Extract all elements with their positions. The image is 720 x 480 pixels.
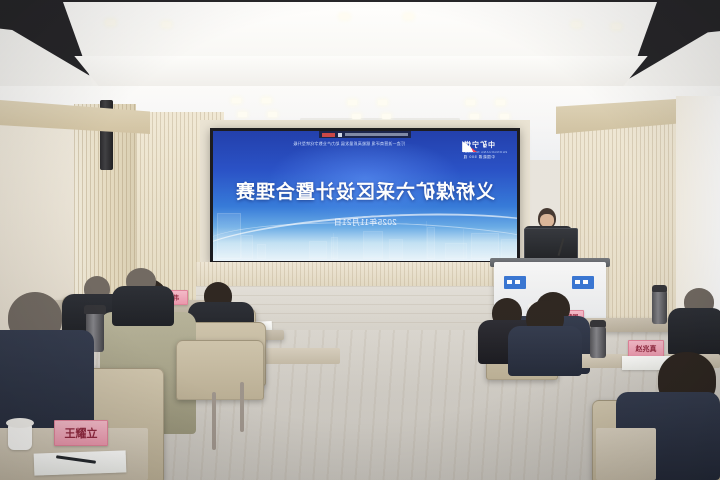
thermos-cap-mid-right [590, 320, 606, 327]
screen-subtitle: 打造一流营商环境 赋能高质量发展 助力产业数字化转型升级 [225, 141, 405, 146]
screen-logo: 中矿宁煤 ZHONGKUANG NINGMEI 中国能源 500 强 [463, 140, 507, 160]
notebook-front-left [34, 450, 127, 475]
skyline-mast-1 [463, 229, 464, 259]
downlight-7 [382, 114, 391, 119]
podium-emblem-right [572, 276, 594, 289]
person-body [668, 308, 720, 356]
skyline-shape-9 [471, 233, 499, 259]
downlight-1 [262, 98, 271, 103]
downlight-14 [340, 14, 349, 19]
screen-topbar-badge [322, 133, 335, 137]
skyline-shape-1 [241, 235, 253, 259]
skyline-mast-2 [333, 233, 334, 259]
downlight-2 [238, 112, 247, 117]
skyline-shape-5 [363, 231, 383, 259]
downlight-11 [500, 114, 509, 119]
skyline-shape-2 [257, 244, 266, 259]
podium-laptop [524, 228, 578, 262]
stage-front-wall [196, 262, 536, 288]
placard-front-left-text: 王耀立 [65, 425, 98, 441]
thermos-back-right [652, 290, 667, 324]
screen-title: 义桥煤矿六采区设计暨合理赛 [213, 177, 517, 204]
skyline-shape-7 [427, 227, 435, 259]
downlight-4 [348, 100, 357, 105]
podium-emblem-left [504, 276, 526, 289]
thermos-cap-left [84, 305, 106, 314]
chair-mid-left-back [176, 340, 264, 400]
person-body [112, 286, 174, 326]
skyline-mast-0 [426, 221, 427, 259]
downlight-6 [352, 114, 361, 119]
downlight-15 [404, 14, 413, 19]
led-screen-bezel: 打造一流营商环境 赋能高质量发展 助力产业数字化转型升级 中矿宁煤 ZHONGK… [210, 128, 520, 264]
downlight-8 [466, 100, 475, 105]
skyline-shape-6 [389, 239, 403, 259]
screen-topbar [319, 131, 411, 138]
skyline-shape-0 [217, 213, 241, 259]
downlight-9 [496, 100, 505, 105]
downlight-10 [470, 114, 479, 119]
chair-leg-mid-left [212, 392, 216, 450]
table-front-right [596, 428, 656, 480]
screen-topbar-icon [338, 133, 342, 137]
downlight-5 [378, 100, 387, 105]
thermos-cap-back-right [652, 285, 667, 292]
screen-topbar-text [345, 133, 408, 136]
cup-lid-front-left [6, 418, 34, 428]
screen-logo-tagline: 中国能源 500 强 [463, 155, 507, 160]
downlight-16 [572, 22, 581, 27]
downlight-12 [106, 20, 115, 25]
placard-mid-right: 赵兆真 [628, 340, 664, 357]
downlight-13 [162, 22, 171, 27]
placard-mid-right-text: 赵兆真 [636, 344, 657, 354]
downlight-3 [268, 112, 277, 117]
screen-skyline-graphic [213, 209, 517, 261]
led-screen: 打造一流营商环境 赋能高质量发展 助力产业数字化转型升级 中矿宁煤 ZHONGK… [213, 131, 517, 261]
downlight-17 [612, 24, 621, 29]
chair-leg-mid-left-2 [240, 382, 244, 432]
skyline-shape-3 [309, 241, 327, 259]
conference-room-photo: 打造一流营商环境 赋能高质量发展 助力产业数字化转型升级 中矿宁煤 ZHONGK… [0, 0, 720, 480]
downlight-0 [232, 98, 241, 103]
person-body [508, 326, 582, 376]
thermos-mid-right [590, 326, 606, 358]
skyline-shape-10 [501, 239, 517, 259]
placard-front-left: 王耀立 [54, 420, 108, 446]
